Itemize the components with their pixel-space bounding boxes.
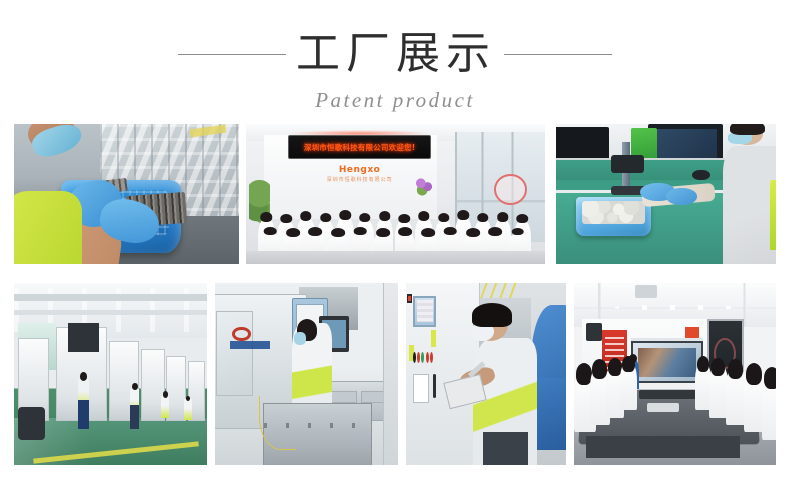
meeting-room-photo[interactable] (574, 283, 776, 465)
quality-recording-photo[interactable] (406, 283, 566, 465)
production-line-photo[interactable] (14, 283, 207, 465)
cnc-machining-photo[interactable] (215, 283, 398, 465)
production-line-scene (14, 283, 207, 465)
hmi-screen (413, 296, 436, 327)
machine-brand-logo (230, 327, 270, 351)
projector-icon (635, 285, 657, 298)
microscope-icon (611, 155, 644, 173)
speaker-icon (586, 323, 602, 341)
wall-logo-text: Hengxo (315, 165, 405, 175)
parts-sorting-scene (14, 124, 239, 264)
cnc-scene (215, 283, 398, 465)
indicator-buttons (413, 352, 435, 363)
meeting-room-scene (574, 283, 776, 465)
group-photo-scene: 深圳市恒歌科技有限公司欢迎您! Hengxo 深圳市恒歌科技有限公司 (246, 124, 545, 264)
quality-scene (406, 283, 566, 465)
factory-showcase-page: 工厂展示 Patent product (0, 0, 790, 493)
company-group-photo[interactable]: 深圳市恒歌科技有限公司欢迎您! Hengxo 深圳市恒歌科技有限公司 (246, 124, 545, 264)
presentation-screen (631, 341, 704, 383)
microscope-inspection-photo[interactable] (556, 124, 776, 264)
parts-sorting-photo[interactable] (14, 124, 239, 264)
led-banner: 深圳市恒歌科技有限公司欢迎您! (288, 135, 432, 159)
inspection-scene (556, 124, 776, 264)
parts-tray-shape (576, 197, 651, 236)
led-banner-text: 深圳市恒歌科技有限公司欢迎您! (304, 142, 415, 153)
photo-gallery: 深圳市恒歌科技有限公司欢迎您! Hengxo 深圳市恒歌科技有限公司 (0, 0, 790, 493)
